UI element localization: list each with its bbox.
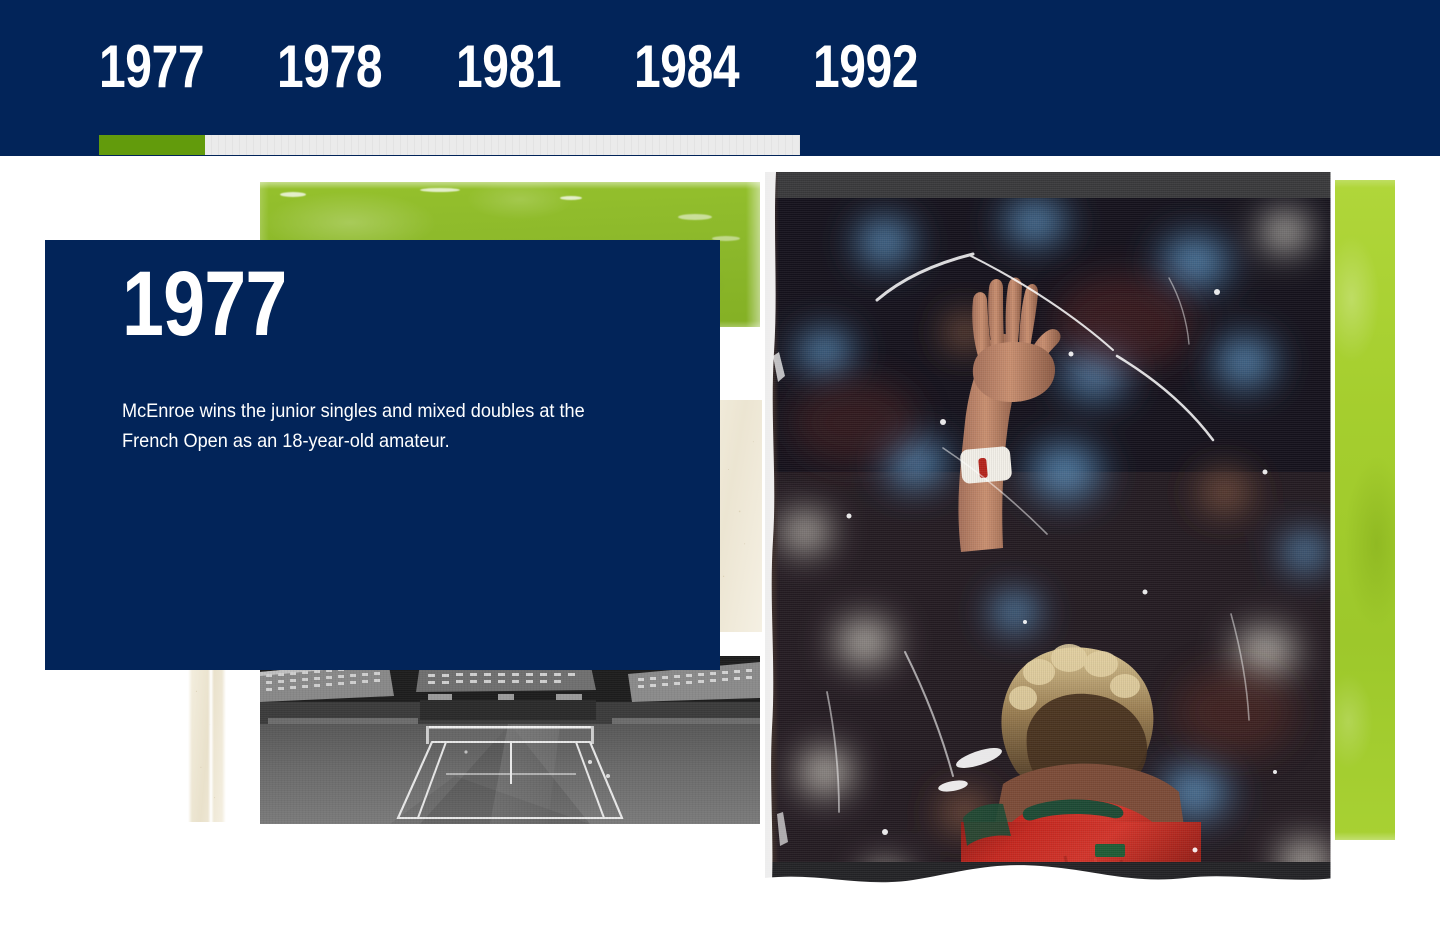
accent-band-right xyxy=(1333,180,1395,840)
photo-frame-left xyxy=(765,172,779,902)
year-tabs: 1977 1978 1981 1984 1992 xyxy=(99,38,944,95)
collage-area: 1977 McEnroe wins the junior singles and… xyxy=(0,156,1440,945)
timeline-progress-track[interactable] xyxy=(99,135,800,155)
story-card: 1977 McEnroe wins the junior singles and… xyxy=(45,240,720,670)
court-photo xyxy=(260,656,760,824)
timeline-page: 1977 1978 1981 1984 1992 xyxy=(0,0,1440,945)
header-band: 1977 1978 1981 1984 1992 xyxy=(0,0,1440,156)
year-tab-1981[interactable]: 1981 xyxy=(456,38,561,95)
timeline-progress-fill xyxy=(99,135,205,155)
year-tab-1978[interactable]: 1978 xyxy=(277,38,382,95)
photo-torn-edge-right xyxy=(1328,172,1335,902)
year-tab-1984[interactable]: 1984 xyxy=(634,38,739,95)
paper-texture-strip xyxy=(188,670,226,822)
photo-frame-top xyxy=(765,172,1335,198)
photo-frame-bottom xyxy=(765,862,1335,902)
hero-photo xyxy=(765,172,1335,902)
story-body: McEnroe wins the junior singles and mixe… xyxy=(122,396,624,456)
story-year: 1977 xyxy=(122,258,287,350)
year-tab-1977[interactable]: 1977 xyxy=(99,38,204,95)
year-tab-1992[interactable]: 1992 xyxy=(813,38,918,95)
